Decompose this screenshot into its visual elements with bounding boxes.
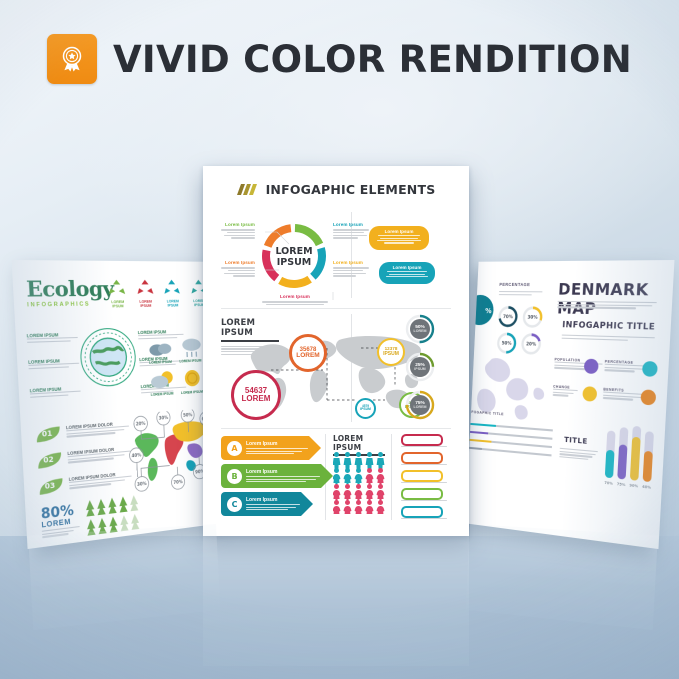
background-vignette [0,0,679,679]
screenshot-stage: VIVID COLOR RENDITION Ecology INFOGRAPHI… [0,0,679,679]
